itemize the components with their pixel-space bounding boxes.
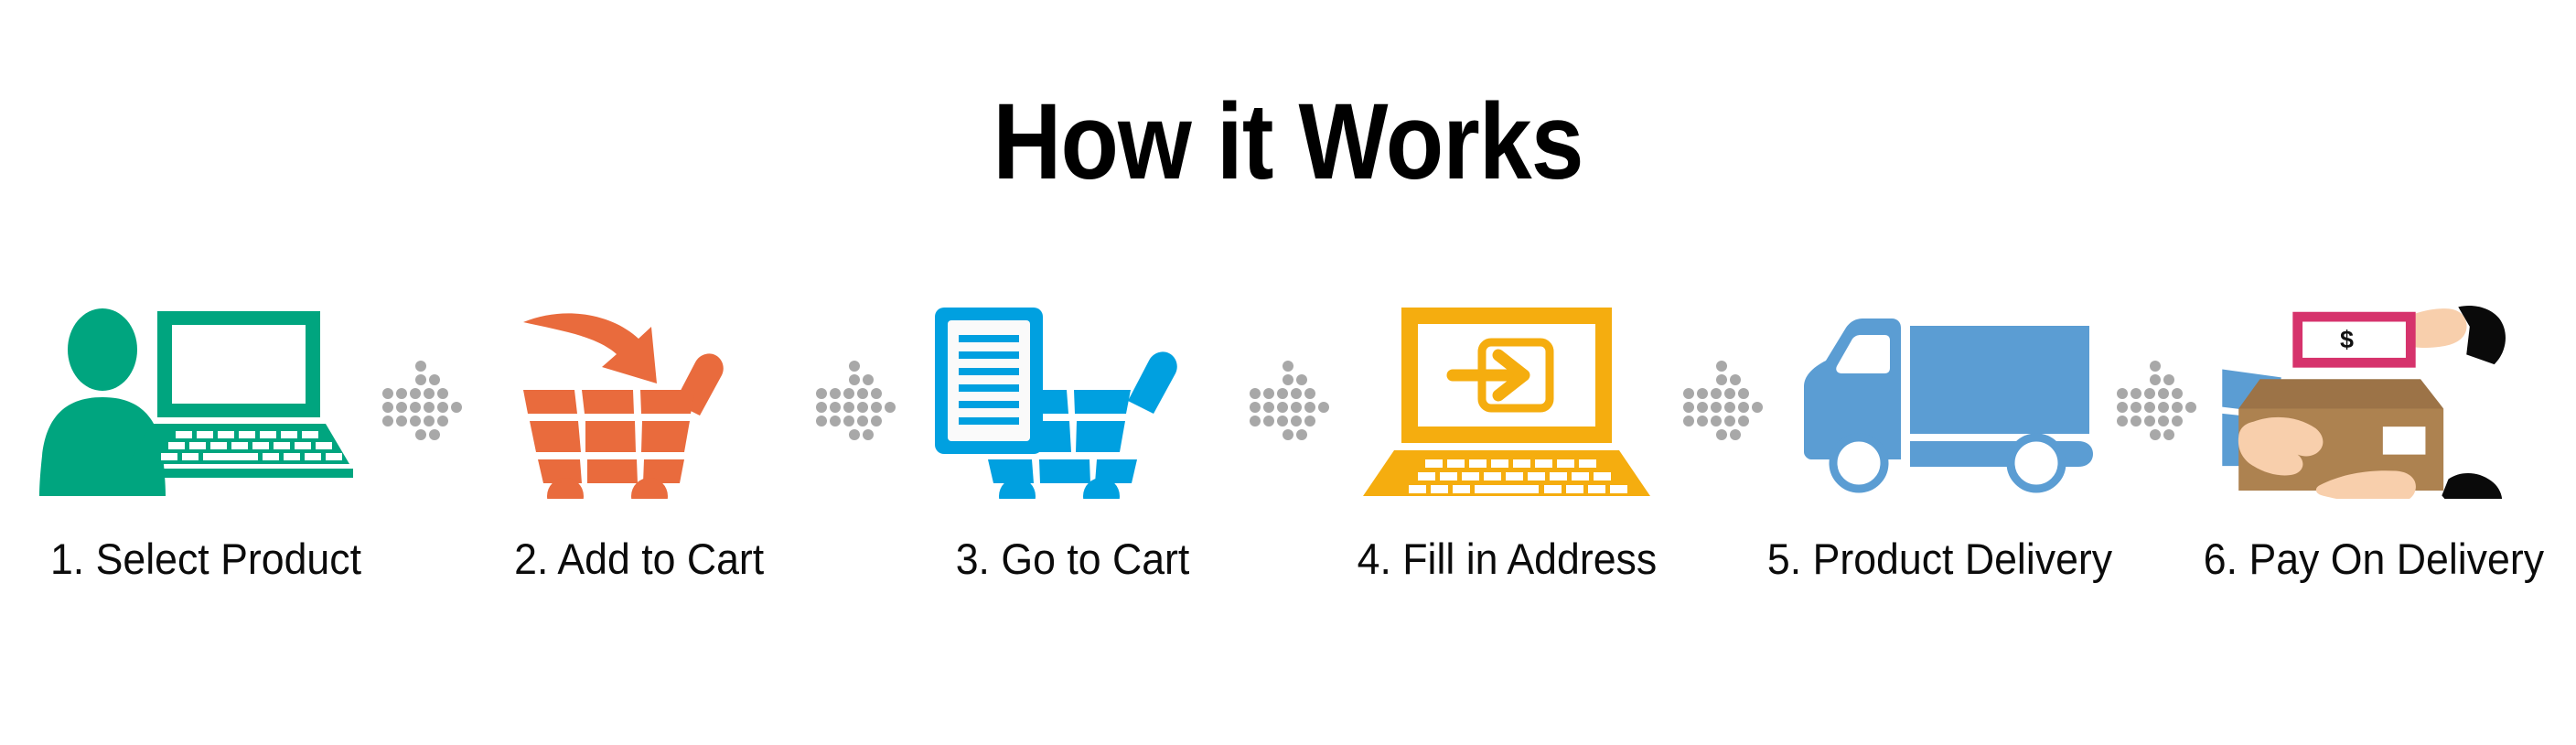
delivery-truck-icon (1771, 302, 2109, 499)
document-cart-icon (904, 302, 1242, 499)
step-1-artwork (37, 302, 375, 499)
step-5-label: 5. Product Delivery (1767, 537, 2112, 580)
step-4-artwork (1337, 302, 1676, 499)
person-laptop-icon (37, 302, 375, 499)
separator-arrow-5 (2115, 302, 2199, 499)
separator-arrow-2 (814, 302, 898, 499)
step-2-label: 2. Add to Cart (514, 537, 764, 580)
steps-strip: 1. Select Product (37, 302, 2543, 686)
dotted-arrow-right-icon (381, 359, 465, 443)
step-1-select-product[interactable]: 1. Select Product (37, 302, 375, 580)
separator-arrow-3 (1248, 302, 1332, 499)
dollar-symbol: $ (2340, 326, 2354, 353)
cart-arrow-icon (470, 302, 809, 499)
dotted-arrow-right-icon (1681, 359, 1766, 443)
page-title: How it Works (155, 88, 2421, 196)
dotted-arrow-right-icon (1248, 359, 1332, 443)
dotted-arrow-right-icon (2115, 359, 2199, 443)
step-6-pay-on-delivery[interactable]: $ 6. Pa (2205, 302, 2543, 580)
how-it-works-infographic: How it Works (0, 0, 2576, 745)
step-1-label: 1. Select Product (50, 537, 361, 580)
dotted-arrow-right-icon (814, 359, 898, 443)
laptop-login-icon (1337, 302, 1676, 499)
step-6-label: 6. Pay On Delivery (2204, 537, 2544, 580)
step-6-artwork: $ (2205, 302, 2543, 499)
separator-arrow-1 (381, 302, 465, 499)
customer-sleeve-bottom (2442, 473, 2502, 499)
separator-arrow-4 (1681, 302, 1766, 499)
step-4-label: 4. Fill in Address (1357, 537, 1657, 580)
step-2-add-to-cart[interactable]: 2. Add to Cart (470, 302, 809, 580)
shipping-label (2383, 426, 2426, 454)
step-3-go-to-cart[interactable]: 3. Go to Cart (904, 302, 1242, 580)
step-5-artwork (1771, 302, 2109, 499)
step-2-artwork (470, 302, 809, 499)
customer-sleeve-top (2458, 306, 2506, 364)
step-3-artwork (904, 302, 1242, 499)
step-3-label: 3. Go to Cart (956, 537, 1190, 580)
hands-box-money-icon: $ (2205, 302, 2543, 499)
banknote: $ (2298, 317, 2411, 362)
step-4-fill-in-address[interactable]: 4. Fill in Address (1337, 302, 1676, 580)
step-5-product-delivery[interactable]: 5. Product Delivery (1771, 302, 2109, 580)
